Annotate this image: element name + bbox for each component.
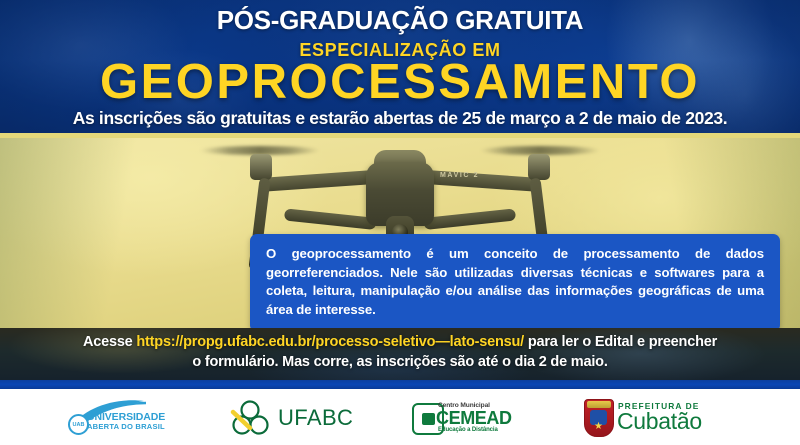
motor-left — [250, 154, 272, 180]
promotional-banner: PÓS-GRADUAÇÃO GRATUITA ESPECIALIZAÇÃO EM… — [0, 0, 800, 445]
cubatao-logo: ★ PREFEITURA DE Cubatão — [584, 396, 732, 438]
uab-wordmark: UNIVERSIDADE ABERTA DO BRASIL — [87, 412, 165, 431]
uab-badge: UAB — [68, 414, 89, 435]
cta-line-2: o formulário. Mas corre, as inscrições s… — [0, 354, 800, 370]
headline-course-title: GEOPROCESSAMENTO — [0, 57, 800, 108]
hero-shadow-left — [0, 138, 150, 328]
cemead-wordmark: CEMEAD — [436, 408, 512, 429]
headline-posgraduacao: PÓS-GRADUAÇÃO GRATUITA — [0, 5, 800, 36]
ufabc-symbol-icon — [230, 399, 280, 439]
ufabc-wordmark: UFABC — [278, 405, 353, 431]
blue-divider — [0, 380, 800, 389]
cta-prefix: Acesse — [83, 334, 136, 350]
cemead-logo: Centro Municipal CEMEAD Educação a Distâ… — [412, 397, 530, 437]
cubatao-wordmark: Cubatão — [617, 408, 702, 435]
description-text: O geoprocessamento é um conceito de proc… — [266, 245, 764, 320]
registration-url[interactable]: https://propg.ufabc.edu.br/processo-sele… — [136, 334, 524, 350]
headline-registration-dates: As inscrições são gratuitas e estarão ab… — [0, 108, 800, 129]
drone-model-label: MAVIC 2 — [440, 172, 504, 182]
ufabc-logo: UFABC — [230, 397, 358, 437]
cubatao-coat-of-arms-icon: ★ — [584, 399, 614, 437]
uab-logo: UAB UNIVERSIDADE ABERTA DO BRASIL — [68, 397, 176, 437]
description-box: O geoprocessamento é um conceito de proc… — [250, 234, 780, 332]
cemead-bottom-text: Educação a Distância — [438, 427, 498, 433]
cta-line-1: Acesse https://propg.ufabc.edu.br/proces… — [0, 334, 800, 350]
call-to-action-band: Acesse https://propg.ufabc.edu.br/proces… — [0, 328, 800, 380]
motor-right — [528, 154, 550, 180]
uab-line-2: ABERTA DO BRASIL — [87, 423, 165, 431]
cta-suffix: para ler o Edital e preencher — [524, 334, 717, 350]
header-section: PÓS-GRADUAÇÃO GRATUITA ESPECIALIZAÇÃO EM… — [0, 0, 800, 133]
logo-footer: UAB UNIVERSIDADE ABERTA DO BRASIL UFABC … — [0, 389, 800, 445]
